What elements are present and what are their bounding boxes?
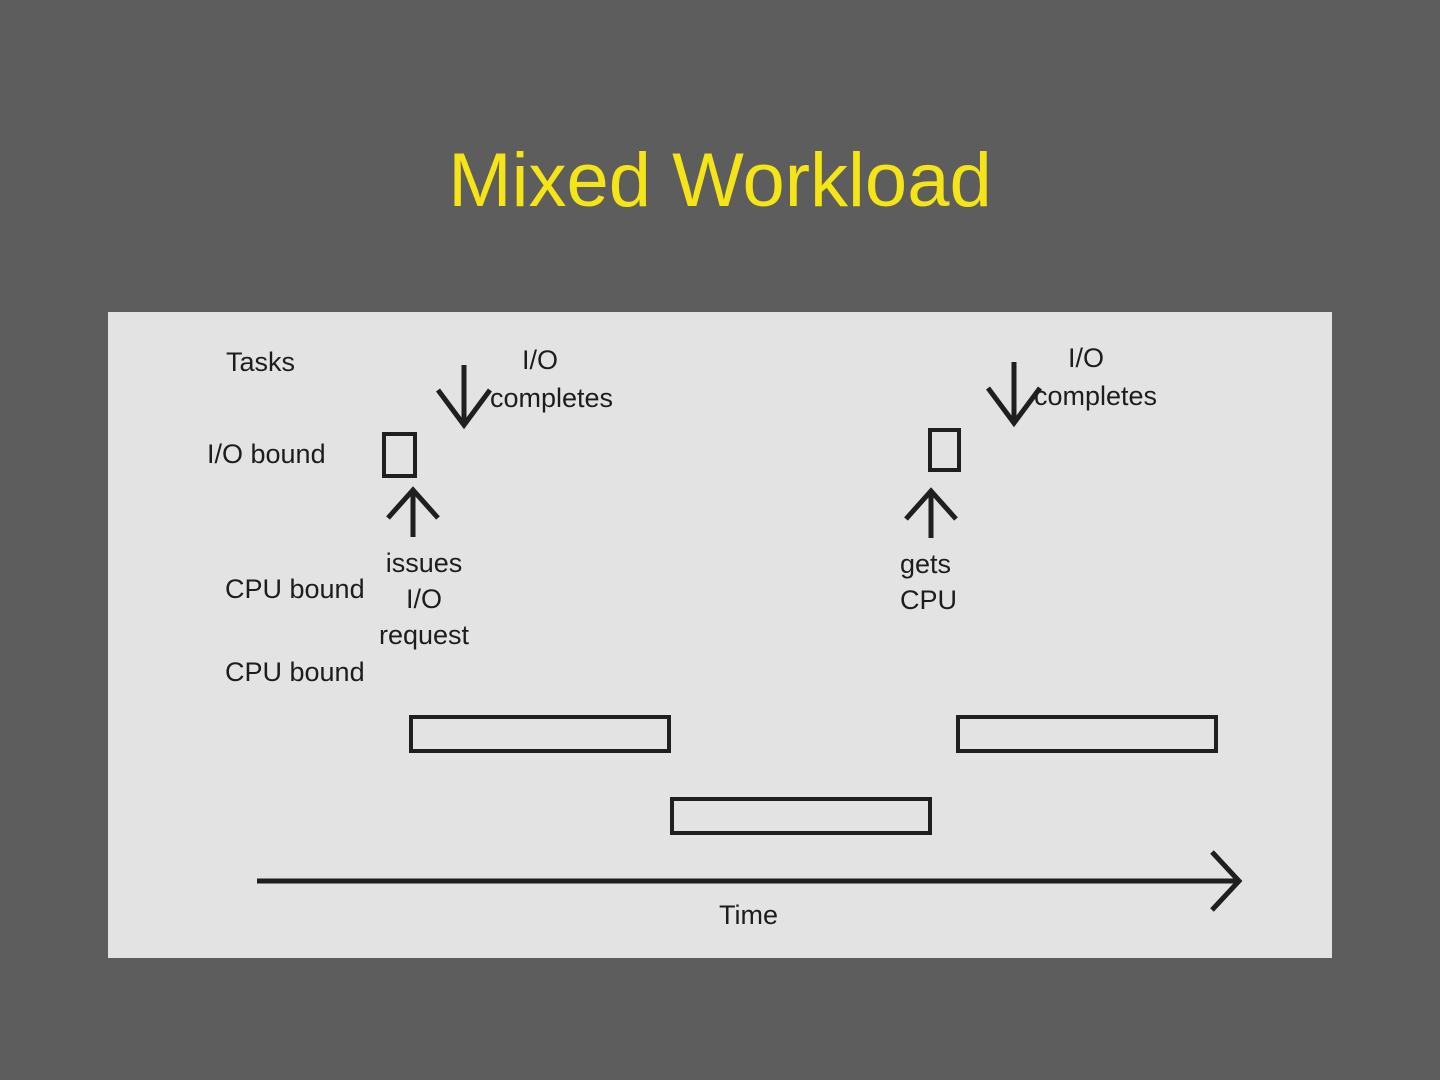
issues-io-request-line3: request <box>366 619 482 652</box>
arrow-io-completes-left <box>438 365 490 425</box>
io-completes-right-line2: completes <box>1034 380 1157 413</box>
io-completes-left-line2: completes <box>490 382 613 415</box>
cpu-bound-burst-bar-1b <box>956 715 1218 753</box>
gets-cpu-line1: gets <box>900 548 951 581</box>
arrow-io-completes-right <box>988 362 1040 423</box>
cpu-bound-burst-bar-1a <box>409 715 671 753</box>
io-completes-right-line1: I/O <box>1068 342 1104 375</box>
issues-io-request-line1: issues <box>368 547 480 580</box>
row-label-cpu-bound-1: CPU bound <box>225 573 365 606</box>
row-label-cpu-bound-2: CPU bound <box>225 656 365 689</box>
issues-io-request-line2: I/O <box>368 583 480 616</box>
gets-cpu-line2: CPU <box>900 584 957 617</box>
io-completes-left-line1: I/O <box>522 344 558 377</box>
row-label-io-bound: I/O bound <box>207 438 326 471</box>
io-bound-burst-box-1 <box>382 432 417 478</box>
cpu-bound-burst-bar-2a <box>670 797 932 835</box>
tasks-label: Tasks <box>226 346 295 379</box>
page-title: Mixed Workload <box>0 138 1440 224</box>
slide: Mixed Workload CPU bound CPU bound I/O b… <box>0 0 1440 1080</box>
io-bound-burst-box-2 <box>928 428 961 472</box>
time-axis-label: Time <box>719 899 778 932</box>
arrow-gets-cpu <box>906 491 956 538</box>
diagram-panel: CPU bound CPU bound I/O bound Tasks I/O … <box>108 312 1332 958</box>
arrow-issues-io-request <box>388 490 438 537</box>
